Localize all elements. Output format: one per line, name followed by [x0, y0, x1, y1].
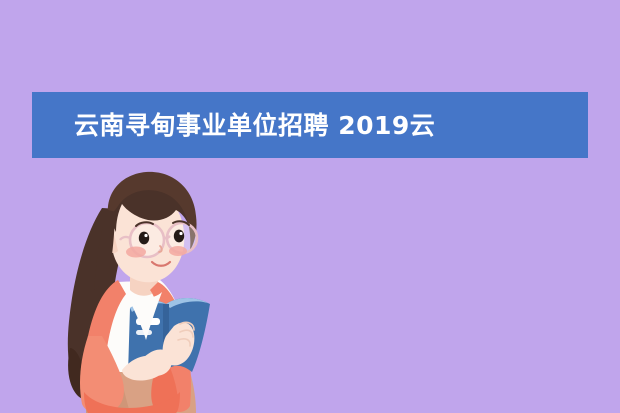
eye-right — [174, 230, 184, 243]
blush-left — [126, 247, 146, 258]
illustration-woman-reading — [30, 158, 260, 413]
eye-left — [139, 232, 149, 245]
woman-reading-book-icon — [30, 158, 260, 413]
page-root: 云南寻甸事业单位招聘 2019云 — [0, 0, 620, 413]
title-banner: 云南寻甸事业单位招聘 2019云 — [32, 92, 588, 158]
blush-right — [169, 246, 187, 256]
page-title: 云南寻甸事业单位招聘 2019云 — [32, 113, 435, 138]
eye-right-highlight — [179, 232, 182, 235]
eye-left-highlight — [144, 234, 147, 237]
